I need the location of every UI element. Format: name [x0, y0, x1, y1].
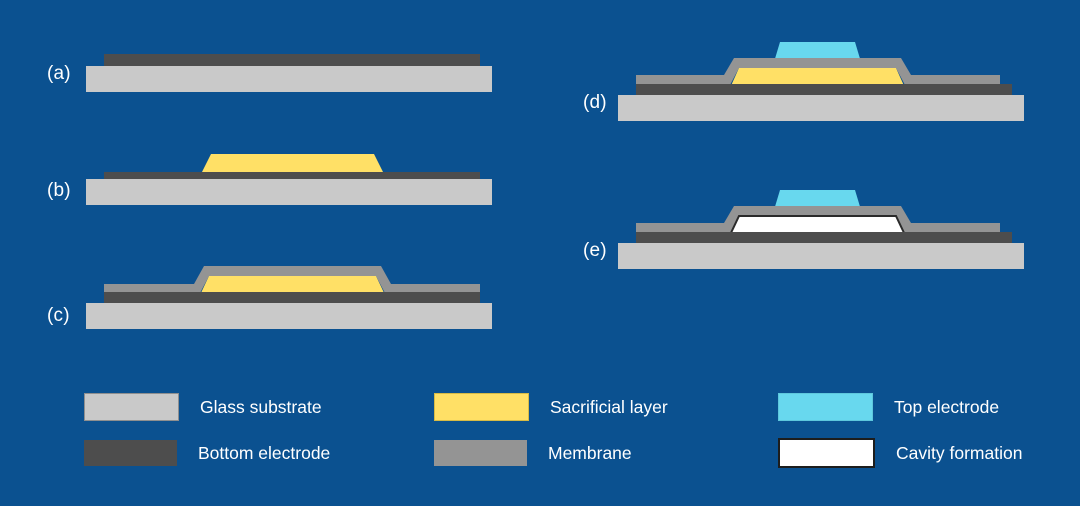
swatch-top-electrode	[778, 393, 873, 421]
legend-label-bottom-electrode: Bottom electrode	[198, 443, 330, 464]
panel-a-bottom-electrode	[104, 54, 480, 66]
panel-b-stack	[86, 154, 492, 205]
panel-a-stack	[86, 54, 492, 92]
legend-label-top-electrode: Top electrode	[894, 397, 999, 418]
panel-a-glass-substrate	[86, 66, 492, 92]
legend: Glass substrate Bottom electrode Sacrifi…	[84, 388, 1044, 478]
panel-label-c: (c)	[47, 305, 70, 327]
panel-c-glass-substrate	[86, 303, 492, 329]
figure-canvas: (a) (b) (c) (d) (e) Glass substrate Bott…	[0, 0, 1080, 506]
legend-label-glass-substrate: Glass substrate	[200, 397, 322, 418]
swatch-bottom-electrode	[84, 440, 177, 466]
panel-label-a: (a)	[47, 63, 71, 85]
legend-item-cavity-formation: Cavity formation	[778, 439, 1022, 467]
panel-e-stack	[618, 190, 1024, 269]
panel-e-bottom-electrode	[636, 232, 1012, 244]
panel-e-glass-substrate	[618, 243, 1024, 269]
legend-item-sacrificial-layer: Sacrificial layer	[434, 393, 668, 421]
panel-label-d: (d)	[583, 92, 607, 114]
panel-d-glass-substrate	[618, 95, 1024, 121]
legend-item-glass-substrate: Glass substrate	[84, 393, 322, 421]
panel-label-b: (b)	[47, 180, 71, 202]
legend-label-cavity-formation: Cavity formation	[896, 443, 1022, 464]
legend-item-bottom-electrode: Bottom electrode	[84, 439, 330, 467]
swatch-membrane	[434, 440, 527, 466]
panel-d-bottom-electrode	[636, 84, 1012, 96]
legend-label-sacrificial-layer: Sacrificial layer	[550, 397, 668, 418]
swatch-cavity-formation	[778, 438, 875, 468]
legend-item-membrane: Membrane	[434, 439, 632, 467]
swatch-sacrificial-layer	[434, 393, 529, 421]
panel-label-e: (e)	[583, 240, 607, 262]
swatch-glass-substrate	[84, 393, 179, 421]
legend-item-top-electrode: Top electrode	[778, 393, 999, 421]
panel-b-sacrificial-layer	[201, 154, 384, 174]
panel-b-glass-substrate	[86, 179, 492, 205]
panel-c-bottom-electrode	[104, 292, 480, 304]
legend-label-membrane: Membrane	[548, 443, 632, 464]
panel-c-stack	[86, 266, 492, 329]
panel-d-stack	[618, 42, 1024, 121]
